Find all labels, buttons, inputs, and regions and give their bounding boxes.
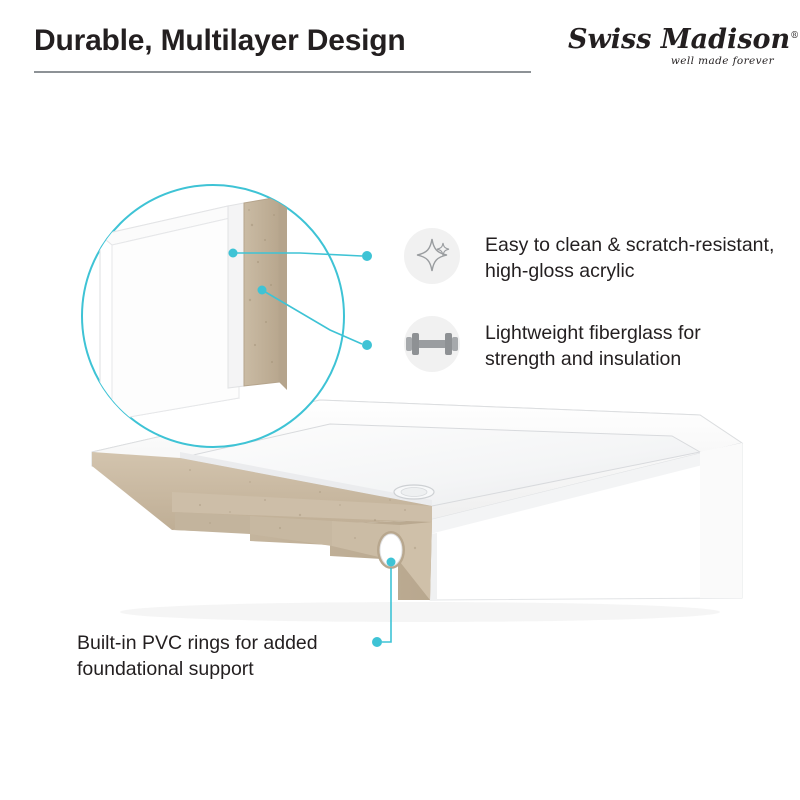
callout-fiberglass-label: Lightweight fiberglass for strength and …	[485, 320, 765, 372]
leader-dot-fiberglass-source	[258, 286, 267, 295]
leader-dot-acrylic-target	[362, 251, 372, 261]
leader-dot-pvc-source	[387, 558, 396, 567]
callout-pvc-rings-label: Built-in PVC rings for added foundationa…	[77, 630, 377, 682]
leader-dot-fiberglass-target	[362, 340, 372, 350]
leader-dot-acrylic-source	[229, 249, 238, 258]
dumbbell-icon	[404, 316, 460, 372]
sparkle-icon	[404, 228, 460, 284]
callout-acrylic-label: Easy to clean & scratch-resistant, high-…	[485, 232, 785, 284]
